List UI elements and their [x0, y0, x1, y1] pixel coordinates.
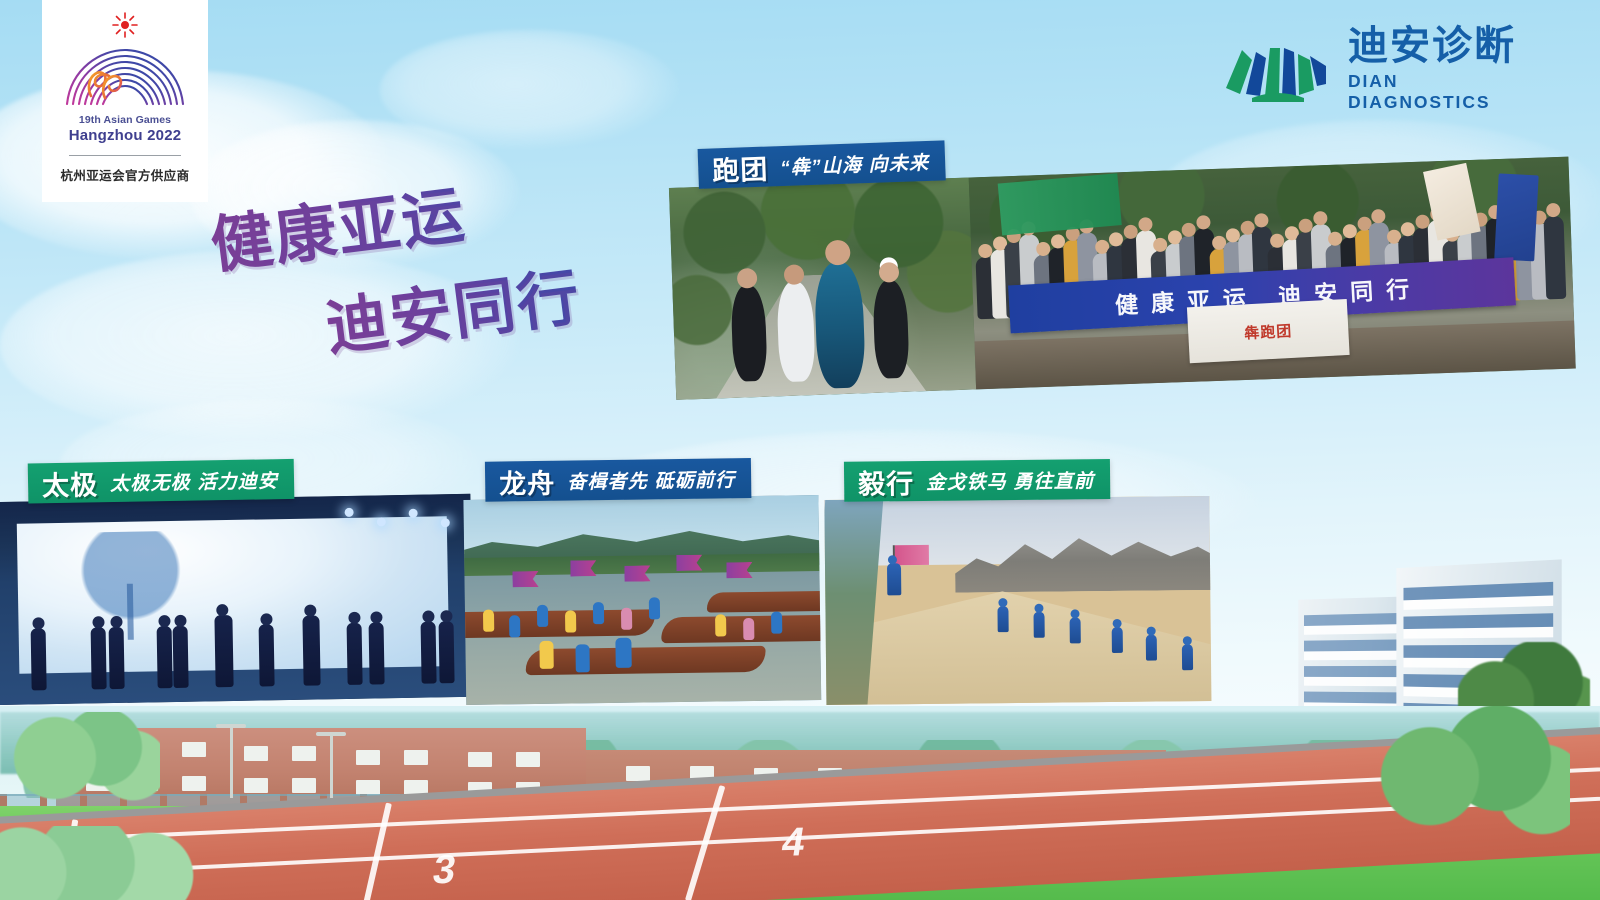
paddler	[565, 610, 576, 632]
led-screen	[17, 516, 450, 673]
hiker	[1182, 644, 1193, 670]
sun-icon	[112, 12, 138, 38]
runner	[872, 280, 909, 379]
street-lamp	[330, 732, 333, 798]
taiji-performer	[91, 627, 107, 689]
campus-tree-right	[1370, 706, 1570, 836]
dian-fan-logo-icon	[1222, 36, 1334, 102]
caption-dragonboat-sub: 奋楫者先 砥砺前行	[567, 465, 735, 494]
caption-taiji-title: 太极	[42, 463, 99, 503]
blue-flag	[1494, 173, 1538, 261]
paddler	[593, 602, 604, 624]
hiker	[1112, 627, 1123, 653]
group-member	[1544, 216, 1567, 300]
taiji-performer	[109, 627, 125, 689]
taiji-performer	[157, 626, 173, 688]
dian-name-en: DIAN DIAGNOSTICS	[1348, 71, 1534, 113]
run-club-banner-text: 犇跑团	[1244, 319, 1293, 342]
photo-card-hike[interactable]: 毅行 金戈铁马 勇往直前	[824, 466, 1211, 705]
runner-lead	[814, 261, 866, 389]
caption-taiji-sub: 太极无极 活力迪安	[110, 466, 279, 496]
taiji-performer-lead	[214, 615, 233, 687]
paddler	[539, 641, 553, 669]
official-supplier-text: 杭州亚运会官方供应商	[60, 165, 189, 184]
asian-games-line2: Hangzhou 2022	[69, 127, 182, 144]
caption-run-sub: “犇”山海 向未来	[780, 147, 930, 179]
photo-card-taiji[interactable]: 太极 太极无极 活力迪安	[0, 472, 474, 705]
foreground-bush	[0, 826, 210, 900]
caption-hike-sub: 金戈铁马 勇往直前	[926, 466, 1094, 495]
dragon-boat	[707, 591, 822, 613]
banner-stage: 19th Asian Games Hangzhou 2022 杭州亚运会官方供应…	[0, 0, 1600, 900]
paddler	[575, 644, 589, 672]
cloud	[380, 30, 680, 150]
dragon-boat	[526, 646, 766, 675]
run-club-banner: 犇跑团	[1187, 299, 1350, 363]
taiji-performer	[31, 628, 47, 690]
taiji-performer	[173, 626, 189, 688]
green-flag	[998, 173, 1122, 235]
stage-light	[409, 509, 418, 518]
taiji-photo-image	[0, 494, 474, 705]
paddler	[649, 597, 660, 619]
stage-light	[377, 517, 386, 526]
taiji-performer	[421, 621, 437, 683]
paddler	[715, 614, 726, 636]
paddler-lead	[615, 638, 631, 668]
taiji-performer	[259, 624, 275, 686]
paddler	[483, 610, 494, 632]
asian-games-line1: 19th Asian Games	[69, 114, 182, 126]
asian-games-title: 19th Asian Games Hangzhou 2022	[69, 114, 182, 144]
lane-number: 4	[779, 820, 808, 866]
taiji-performer	[347, 623, 363, 685]
caption-dragonboat-title: 龙舟	[499, 461, 556, 501]
runners-scene	[669, 178, 976, 400]
hike-photo-image	[824, 496, 1211, 705]
campus-tree-left	[10, 712, 160, 804]
street-lamp	[230, 724, 233, 798]
asian-games-logo-card: 19th Asian Games Hangzhou 2022 杭州亚运会官方供应…	[42, 0, 208, 202]
runner	[730, 285, 767, 382]
dian-wordmark: 迪安诊断 DIAN DIAGNOSTICS	[1348, 26, 1534, 113]
caption-hike-title: 毅行	[858, 462, 914, 502]
caption-run-title: 跑团	[712, 147, 769, 188]
taiji-performer	[439, 621, 455, 683]
paddler	[621, 608, 632, 630]
taiji-performer	[369, 622, 385, 684]
dian-name-cn: 迪安诊断	[1348, 26, 1534, 66]
team-flag	[895, 545, 929, 565]
caption-hike: 毅行 金戈铁马 勇往直前	[844, 459, 1110, 502]
hiker	[1070, 617, 1081, 643]
run-photo-image: 健康亚运 迪安同行 犇跑团	[669, 157, 1576, 400]
hangzhou-2022-emblem-icon	[61, 38, 189, 108]
paddler	[509, 615, 520, 637]
hiker-lead	[887, 563, 901, 595]
photo-card-run[interactable]: 健康亚运 迪安同行 犇跑团 跑团 “犇”山海 向未来	[668, 131, 1576, 402]
stage-light	[345, 508, 354, 517]
paddler	[771, 612, 782, 634]
lane-divider	[359, 803, 391, 900]
campus-illustration: 2 3 4	[0, 706, 1600, 900]
divider	[69, 155, 181, 156]
paddler	[537, 605, 548, 627]
group-photo-scene: 健康亚运 迪安同行 犇跑团	[969, 157, 1576, 390]
dragon-boat	[661, 615, 821, 644]
photo-card-dragonboat[interactable]: 龙舟 奋楫者先 砥砺前行	[463, 465, 821, 705]
hiker	[1146, 635, 1157, 661]
taiji-performer	[302, 615, 320, 685]
paddler	[743, 618, 754, 640]
dian-diagnostics-logo: 迪安诊断 DIAN DIAGNOSTICS	[1222, 30, 1534, 108]
hiker	[1033, 612, 1044, 638]
caption-dragonboat: 龙舟 奋楫者先 砥砺前行	[485, 458, 752, 502]
hiker	[997, 606, 1008, 632]
dragonboat-photo-image	[463, 495, 821, 705]
caption-taiji: 太极 太极无极 活力迪安	[28, 459, 295, 504]
